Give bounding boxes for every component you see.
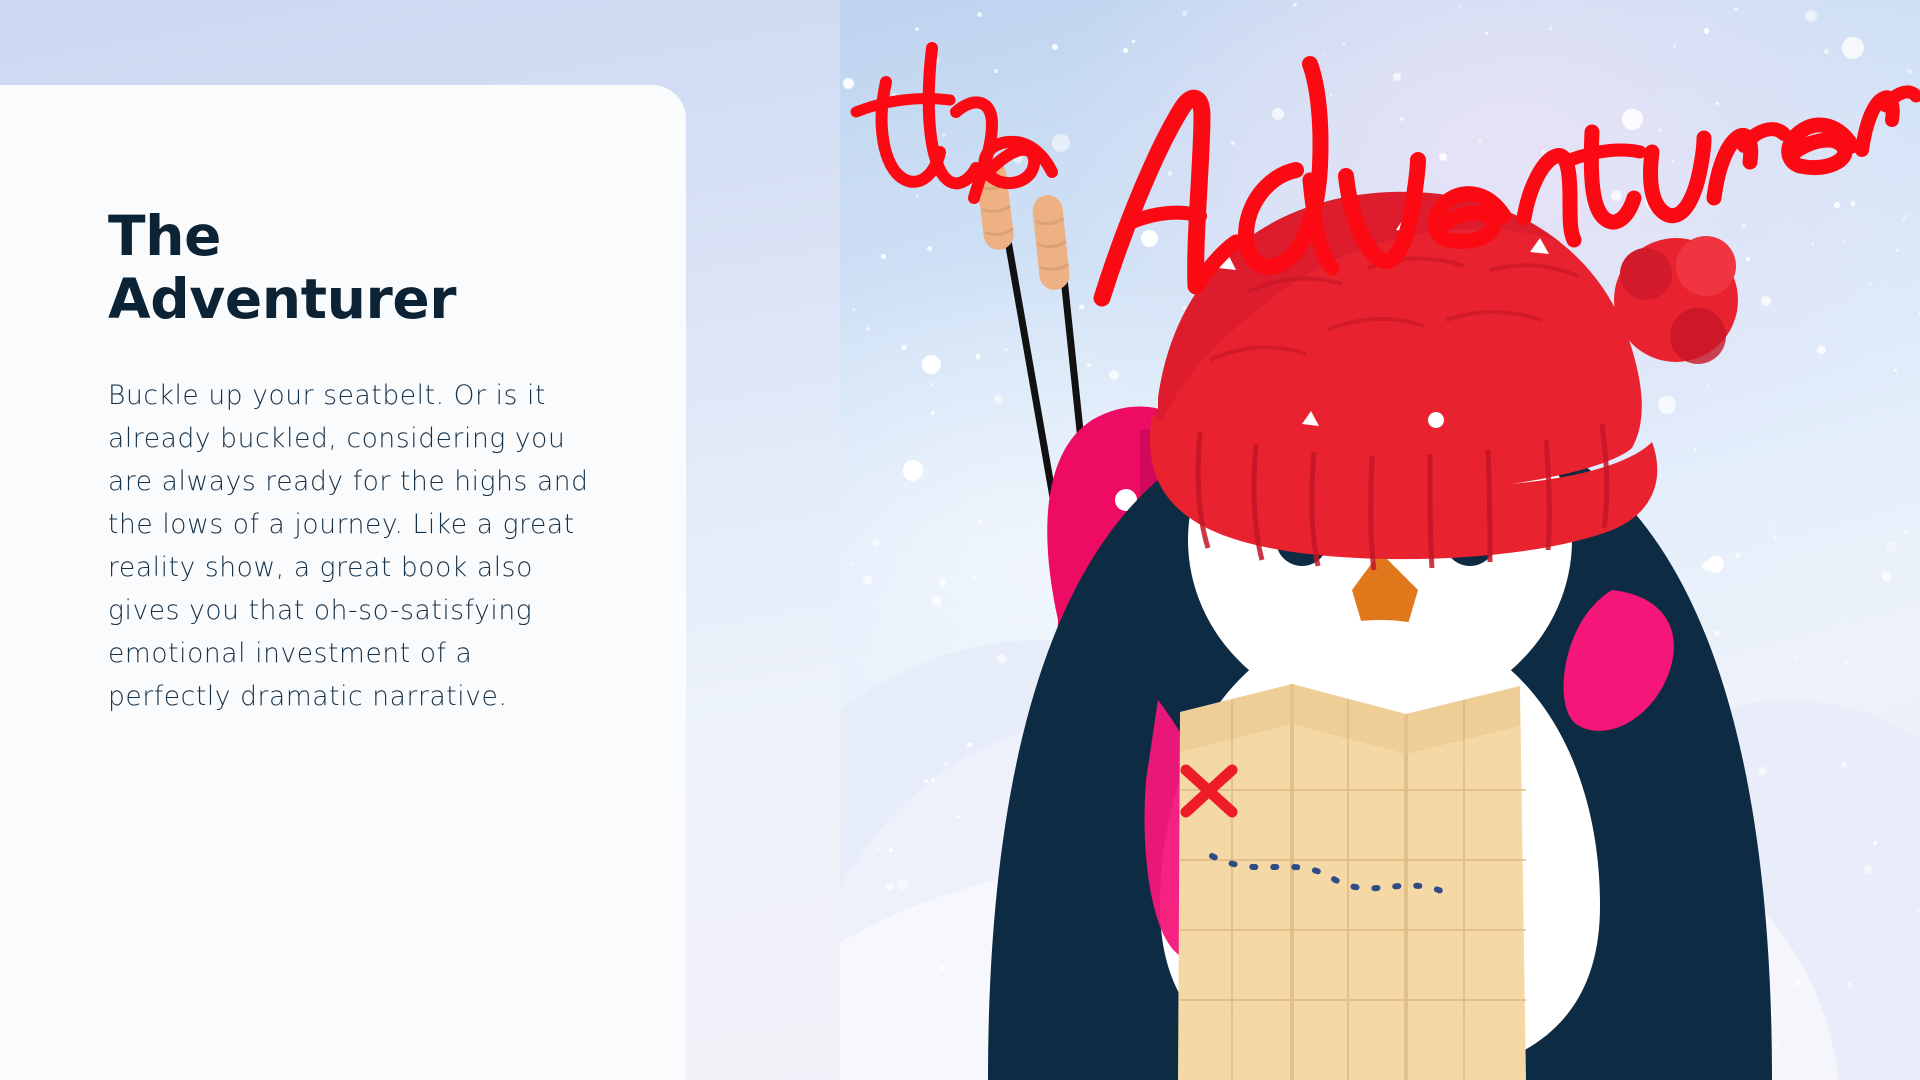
knit-hat [1150,192,1738,570]
hat-pompom [1614,236,1738,364]
page-root: The Adventurer Buckle up your seatbelt. … [0,0,1920,1080]
page-title: The Adventurer [108,205,478,330]
content-card: The Adventurer Buckle up your seatbelt. … [0,85,686,1080]
illustration-panel [840,0,1920,1080]
page-description: Buckle up your seatbelt. Or is it alread… [108,374,590,718]
card-content: The Adventurer Buckle up your seatbelt. … [108,205,608,718]
treasure-map [1178,684,1526,1080]
penguin-character [840,0,1920,1080]
